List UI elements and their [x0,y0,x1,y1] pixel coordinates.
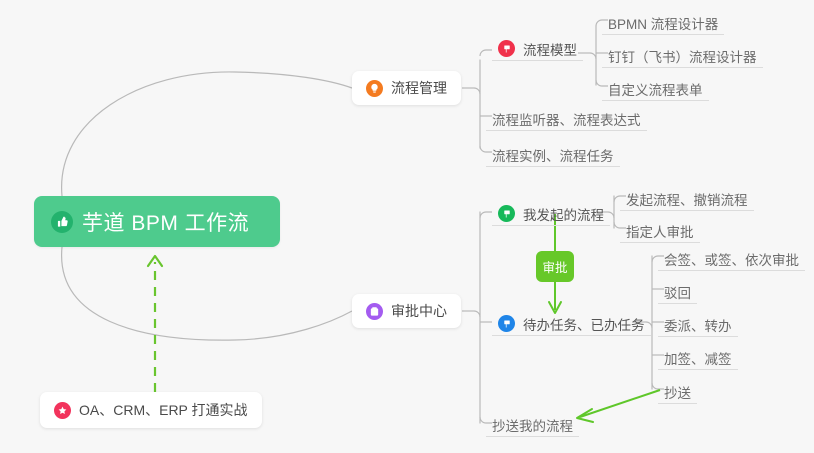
leaf-process-listener-expression[interactable]: 流程监听器、流程表达式 [486,104,647,131]
flag-icon-blue [498,315,515,332]
flag-icon-red [498,40,515,57]
leaf-delegate-transfer[interactable]: 委派、转办 [658,310,738,337]
leaf-label: 会签、或签、依次审批 [664,254,799,268]
leaf-designated-approver[interactable]: 指定人审批 [620,216,700,243]
branch-approval-center[interactable]: 审批中心 [352,294,461,328]
leaf-label: 委派、转办 [664,320,732,334]
lightbulb-icon [366,80,383,97]
bottom-note-card[interactable]: OA、CRM、ERP 打通实战 [40,392,262,428]
branch-label: 审批中心 [391,301,447,321]
leaf-start-cancel-process[interactable]: 发起流程、撤销流程 [620,184,754,211]
flag-icon-green [498,205,515,222]
clipboard-icon [366,303,383,320]
mindmap-canvas: 芋道 BPM 工作流 流程管理 审批中心 流程模型 流程监听器、流程表达式 流程 [0,0,814,453]
approval-badge[interactable]: 审批 [536,251,574,282]
leaf-add-remove-sign[interactable]: 加签、减签 [658,343,738,370]
star-icon [54,402,71,419]
leaf-process-instance-task[interactable]: 流程实例、流程任务 [486,140,620,167]
leaf-reject[interactable]: 驳回 [658,277,697,304]
leaf-label: 自定义流程表单 [608,84,703,98]
branch-label: 流程管理 [391,78,447,98]
leaf-label: 流程模型 [523,44,577,58]
leaf-label: 待办任务、已办任务 [523,319,645,333]
leaf-countersign-or-sign-sequential[interactable]: 会签、或签、依次审批 [658,244,805,271]
leaf-custom-process-form[interactable]: 自定义流程表单 [602,74,709,101]
dashed-arrow-up [148,256,162,392]
leaf-my-initiated-process[interactable]: 我发起的流程 [492,199,610,226]
leaf-label: 钉钉（飞书）流程设计器 [608,51,757,65]
leaf-cc[interactable]: 抄送 [658,377,697,404]
leaf-label: 流程监听器、流程表达式 [492,114,641,128]
leaf-process-model[interactable]: 流程模型 [492,34,583,61]
leaf-cc-to-me-process[interactable]: 抄送我的流程 [486,410,579,437]
bottom-note-label: OA、CRM、ERP 打通实战 [79,400,248,420]
leaf-label: 抄送我的流程 [492,420,573,434]
leaf-label: 指定人审批 [626,226,694,240]
leaf-label: 发起流程、撤销流程 [626,194,748,208]
leaf-dingtalk-feishu-designer[interactable]: 钉钉（飞书）流程设计器 [602,41,763,68]
leaf-label: 驳回 [664,287,691,301]
root-node[interactable]: 芋道 BPM 工作流 [34,196,280,247]
leaf-label: 抄送 [664,387,691,401]
leaf-label: 加签、减签 [664,353,732,367]
thumbs-up-icon [51,211,73,233]
leaf-label: 我发起的流程 [523,209,604,223]
approval-badge-label: 审批 [542,257,567,276]
root-label: 芋道 BPM 工作流 [82,207,249,237]
cc-link-arrow [577,390,660,422]
branch-process-management[interactable]: 流程管理 [352,71,461,105]
leaf-label: 流程实例、流程任务 [492,150,614,164]
leaf-todo-done-tasks[interactable]: 待办任务、已办任务 [492,309,651,336]
leaf-label: BPMN 流程设计器 [608,18,718,32]
leaf-bpmn-designer[interactable]: BPMN 流程设计器 [602,8,724,35]
